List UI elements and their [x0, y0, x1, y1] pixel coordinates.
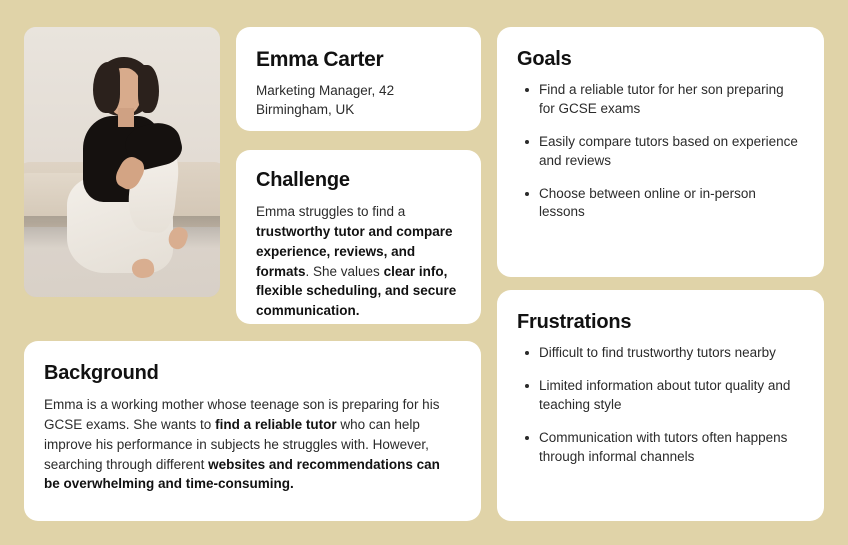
challenge-card: Challenge Emma struggles to find a trust… — [236, 150, 481, 324]
photo-hair-left — [93, 62, 120, 113]
identity-card: Emma Carter Marketing Manager, 42 Birmin… — [236, 27, 481, 131]
challenge-title: Challenge — [256, 168, 461, 192]
challenge-text: Emma struggles to find a trustworthy tut… — [256, 202, 461, 321]
frustrations-list: Difficult to find trustworthy tutors nea… — [517, 344, 802, 466]
persona-photo — [24, 27, 220, 297]
list-item: Communication with tutors often happens … — [537, 429, 802, 467]
list-item: Easily compare tutors based on experienc… — [537, 133, 802, 171]
background-title: Background — [44, 361, 457, 385]
plain-text: Emma struggles to find a — [256, 204, 405, 219]
list-item: Limited information about tutor quality … — [537, 377, 802, 415]
persona-name: Emma Carter — [256, 47, 461, 72]
background-text: Emma is a working mother whose teenage s… — [44, 395, 457, 494]
goals-title: Goals — [517, 47, 802, 71]
persona-role-age: Marketing Manager, 42 — [256, 81, 461, 100]
list-item: Choose between online or in-person lesso… — [537, 185, 802, 223]
persona-board: Emma Carter Marketing Manager, 42 Birmin… — [0, 0, 848, 545]
goals-card: Goals Find a reliable tutor for her son … — [497, 27, 824, 277]
goals-list: Find a reliable tutor for her son prepar… — [517, 81, 802, 222]
background-card: Background Emma is a working mother whos… — [24, 341, 481, 521]
list-item: Find a reliable tutor for her son prepar… — [537, 81, 802, 119]
frustrations-card: Frustrations Difficult to find trustwort… — [497, 290, 824, 521]
list-item: Difficult to find trustworthy tutors nea… — [537, 344, 802, 363]
emphasis-text: find a reliable tutor — [215, 417, 337, 432]
photo-scene — [24, 27, 220, 297]
photo-neck — [118, 108, 134, 127]
frustrations-title: Frustrations — [517, 310, 802, 334]
persona-location: Birmingham, UK — [256, 100, 461, 119]
plain-text: . She values — [306, 264, 384, 279]
